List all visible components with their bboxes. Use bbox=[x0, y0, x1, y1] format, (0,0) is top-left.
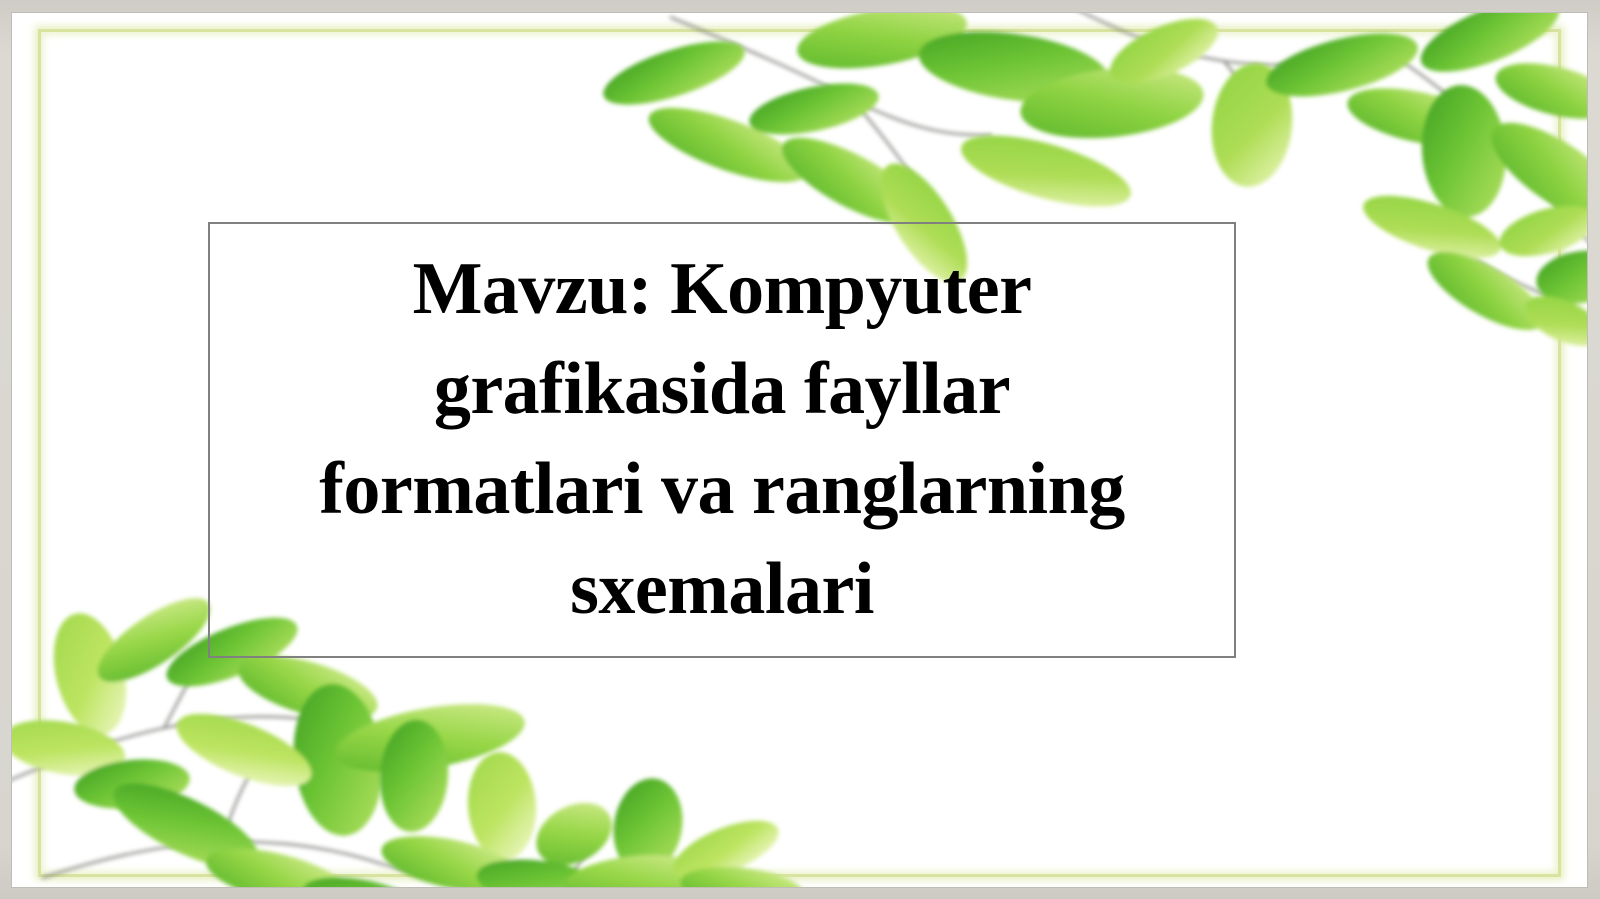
title-placeholder-box[interactable]: Mavzu: Kompyuter grafikasida fayllar for… bbox=[208, 222, 1236, 658]
presentation-slide: Mavzu: Kompyuter grafikasida fayllar for… bbox=[0, 0, 1600, 899]
slide-canvas: Mavzu: Kompyuter grafikasida fayllar for… bbox=[12, 13, 1587, 887]
slide-title: Mavzu: Kompyuter grafikasida fayllar for… bbox=[210, 240, 1234, 640]
